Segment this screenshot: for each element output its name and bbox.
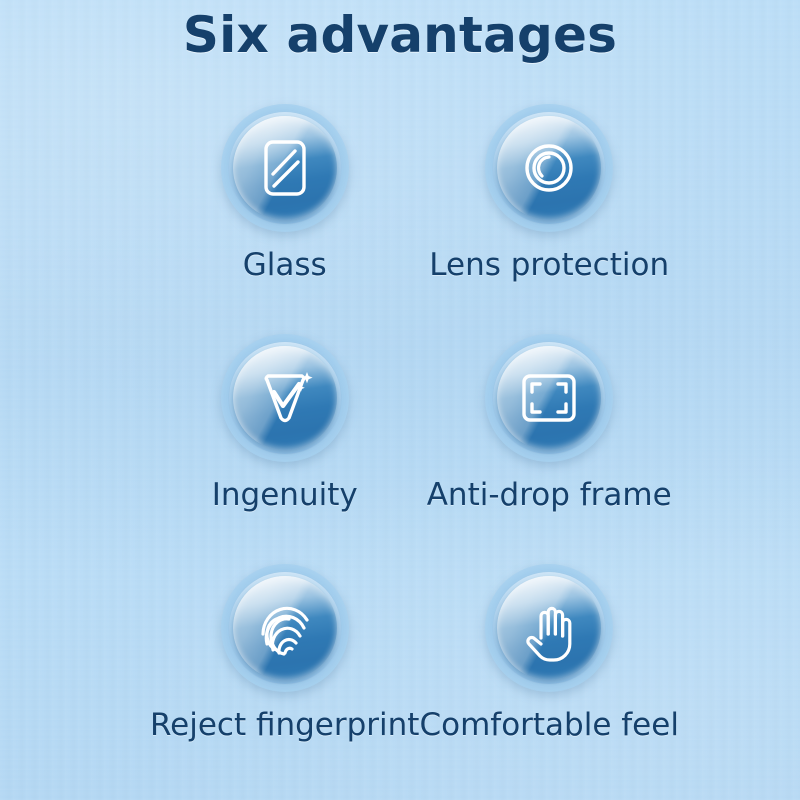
glass-screen-icon [233,116,337,220]
feature-badge [485,334,613,462]
fingerprint-icon [233,576,337,680]
feature-label: Anti-drop frame [427,480,672,511]
feature-label: Reject fingerprint [150,710,419,741]
feature-item-glass[interactable]: Glass [0,104,419,334]
feature-badge [485,104,613,232]
hand-palm-icon [497,576,601,680]
feature-badge [221,334,349,462]
feature-badge [485,564,613,692]
feature-label: Glass [243,250,327,281]
feature-item-reject-fingerprint[interactable]: Reject fingerprint [0,564,419,794]
feature-label: Comfortable feel [419,710,678,741]
features-grid: Glass Lens protection [0,104,800,794]
feature-label: Lens protection [429,250,669,281]
feature-label: Ingenuity [212,480,358,511]
diamond-check-icon [233,346,337,450]
camera-lens-icon [497,116,601,220]
page-title: Six advantages [0,6,800,64]
corner-frame-icon [497,346,601,450]
feature-badge [221,104,349,232]
feature-badge [221,564,349,692]
feature-item-lens-protection[interactable]: Lens protection [419,104,800,334]
feature-item-anti-drop-frame[interactable]: Anti-drop frame [419,334,800,564]
advantages-poster: Six advantages Glass [0,0,800,800]
feature-item-comfortable-feel[interactable]: Comfortable feel [419,564,800,794]
feature-item-ingenuity[interactable]: Ingenuity [0,334,419,564]
